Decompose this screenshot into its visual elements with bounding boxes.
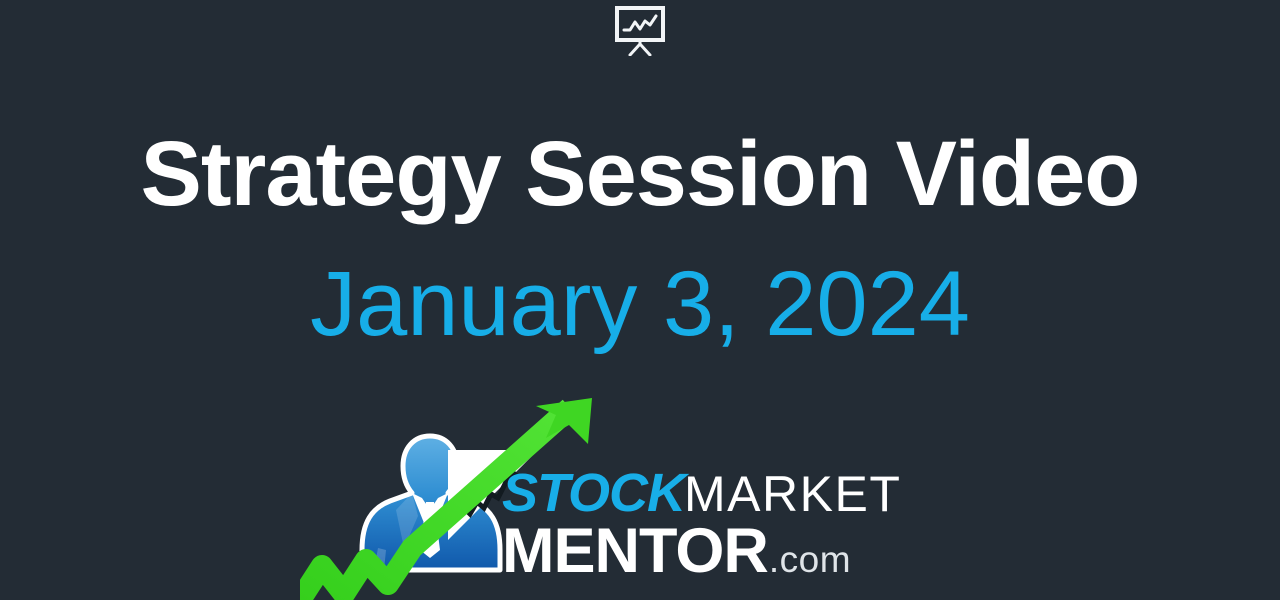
session-date: January 3, 2024: [0, 258, 1280, 350]
wordmark-dotcom: .com: [769, 541, 851, 578]
wordmark-line-two: MENTOR .com: [502, 520, 942, 583]
page-title: Strategy Session Video: [0, 128, 1280, 220]
slide-canvas: Strategy Session Video January 3, 2024: [0, 0, 1280, 600]
presentation-chart-icon: [0, 4, 1280, 56]
wordmark-market: MARKET: [684, 469, 901, 519]
logo-wordmark: STOCK MARKET MENTOR .com: [502, 466, 942, 586]
stockmarketmentor-logo: STOCK MARKET MENTOR .com: [300, 398, 940, 600]
wordmark-mentor: MENTOR: [502, 520, 768, 583]
wordmark-line-one: STOCK MARKET: [502, 466, 942, 518]
wordmark-stock: STOCK: [502, 466, 685, 520]
